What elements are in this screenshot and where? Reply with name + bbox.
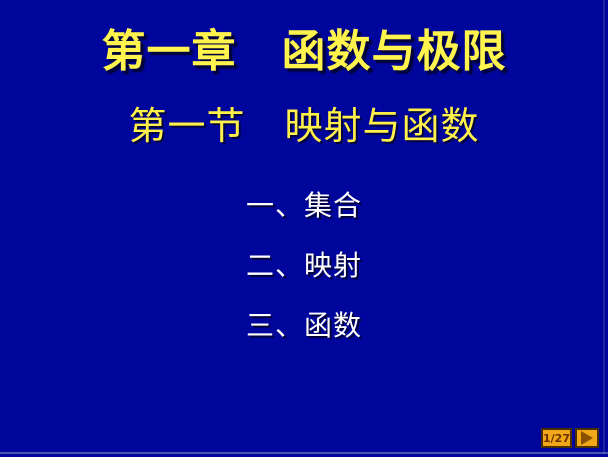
list-item: 二、映射 xyxy=(0,236,608,296)
presentation-slide: 第一章 函数与极限 第一节 映射与函数 一、集合 二、映射 三、函数 1/27 xyxy=(0,0,608,457)
page-indicator[interactable]: 1/27 xyxy=(541,428,572,448)
navigation-controls: 1/27 xyxy=(541,428,599,448)
next-slide-button[interactable] xyxy=(575,428,599,448)
slide-frame-bottom-line xyxy=(0,452,608,454)
outline-list: 一、集合 二、映射 三、函数 xyxy=(0,176,608,356)
chapter-title: 第一章 函数与极限 xyxy=(0,26,608,78)
section-title: 第一节 映射与函数 xyxy=(0,103,608,149)
play-triangle-right-icon xyxy=(581,431,593,445)
list-item: 一、集合 xyxy=(0,176,608,236)
list-item: 三、函数 xyxy=(0,296,608,356)
